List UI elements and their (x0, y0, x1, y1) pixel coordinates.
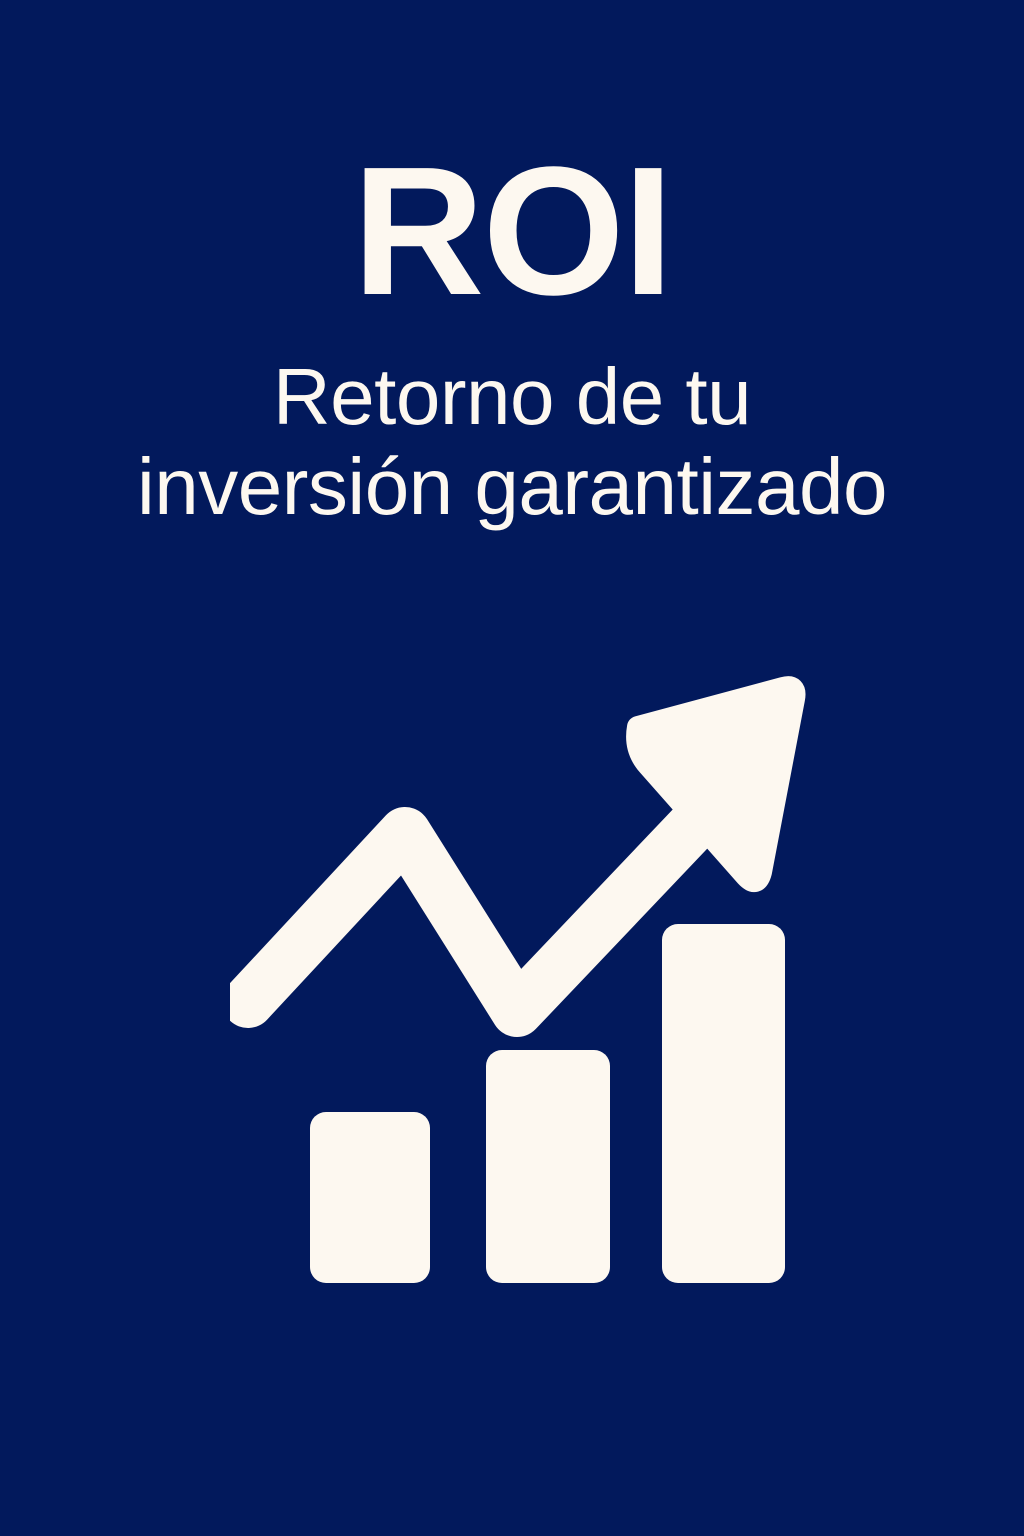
subtitle: Retorno de tu inversión garantizado (0, 352, 1024, 533)
trend-line-path (248, 787, 730, 1011)
growth-bar-chart-arrow-icon (230, 675, 810, 1295)
subtitle-line-1: Retorno de tu (40, 352, 984, 442)
bar-3 (662, 924, 785, 1283)
bar-2 (486, 1050, 610, 1283)
bar-1 (310, 1112, 430, 1283)
page-title: ROI (0, 139, 1024, 322)
subtitle-line-2: inversión garantizado (40, 442, 984, 532)
roi-poster: ROI Retorno de tu inversión garantizado (0, 0, 1024, 1536)
